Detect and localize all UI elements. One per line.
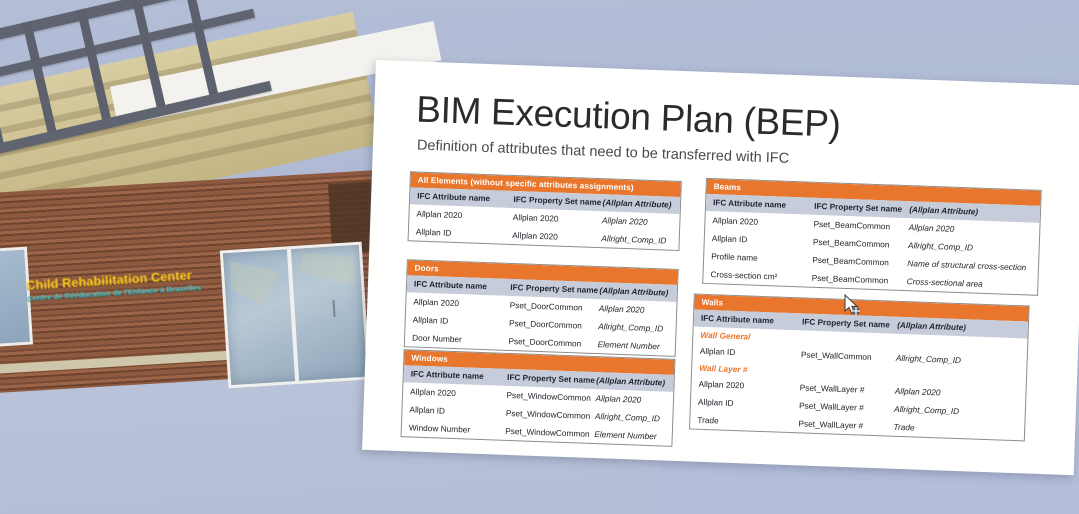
cell-pset: Pset_BeamCommon	[804, 268, 900, 289]
cell-pset: Allplan 2020	[505, 226, 595, 247]
cell-attribute: Trade	[690, 410, 792, 432]
cell-attribute: Allplan ID	[409, 222, 506, 243]
table-windows: Windows IFC Attribute name IFC Property …	[401, 349, 676, 447]
cell-allplan: Allright_Comp_ID	[594, 229, 679, 250]
cell-attribute: Window Number	[402, 418, 499, 439]
cell-allplan: Cross-sectional area	[899, 272, 1037, 295]
table-walls: Walls IFC Attribute name IFC Property Se…	[689, 294, 1030, 442]
presentation-slide: BIM Execution Plan (BEP) Definition of a…	[362, 60, 1079, 475]
cell-allplan: Trade	[886, 418, 1024, 441]
cell-pset: Pset_WallLayer #	[791, 414, 887, 435]
cell-allplan: Element Number	[590, 335, 675, 356]
cell-allplan: Element Number	[587, 425, 672, 446]
table-beams: Beams IFC Attribute name IFC Property Se…	[702, 178, 1042, 296]
screenshot-stage: Child Rehabilitation Center Centre de Ré…	[0, 0, 1079, 514]
page-title: BIM Execution Plan (BEP)	[416, 88, 842, 145]
page-subtitle: Definition of attributes that need to be…	[417, 138, 790, 167]
table-doors: Doors IFC Attribute name IFC Property Se…	[404, 259, 679, 357]
cell-pset: Pset_DoorCommon	[501, 332, 591, 353]
table-all-elements: All Elements (without specific attribute…	[408, 171, 682, 251]
cell-attribute: Cross-section cm²	[703, 265, 805, 287]
cell-pset: Pset_WindowCommon	[498, 422, 588, 443]
cell-attribute: Door Number	[405, 328, 502, 349]
entrance-glazing	[220, 242, 370, 389]
